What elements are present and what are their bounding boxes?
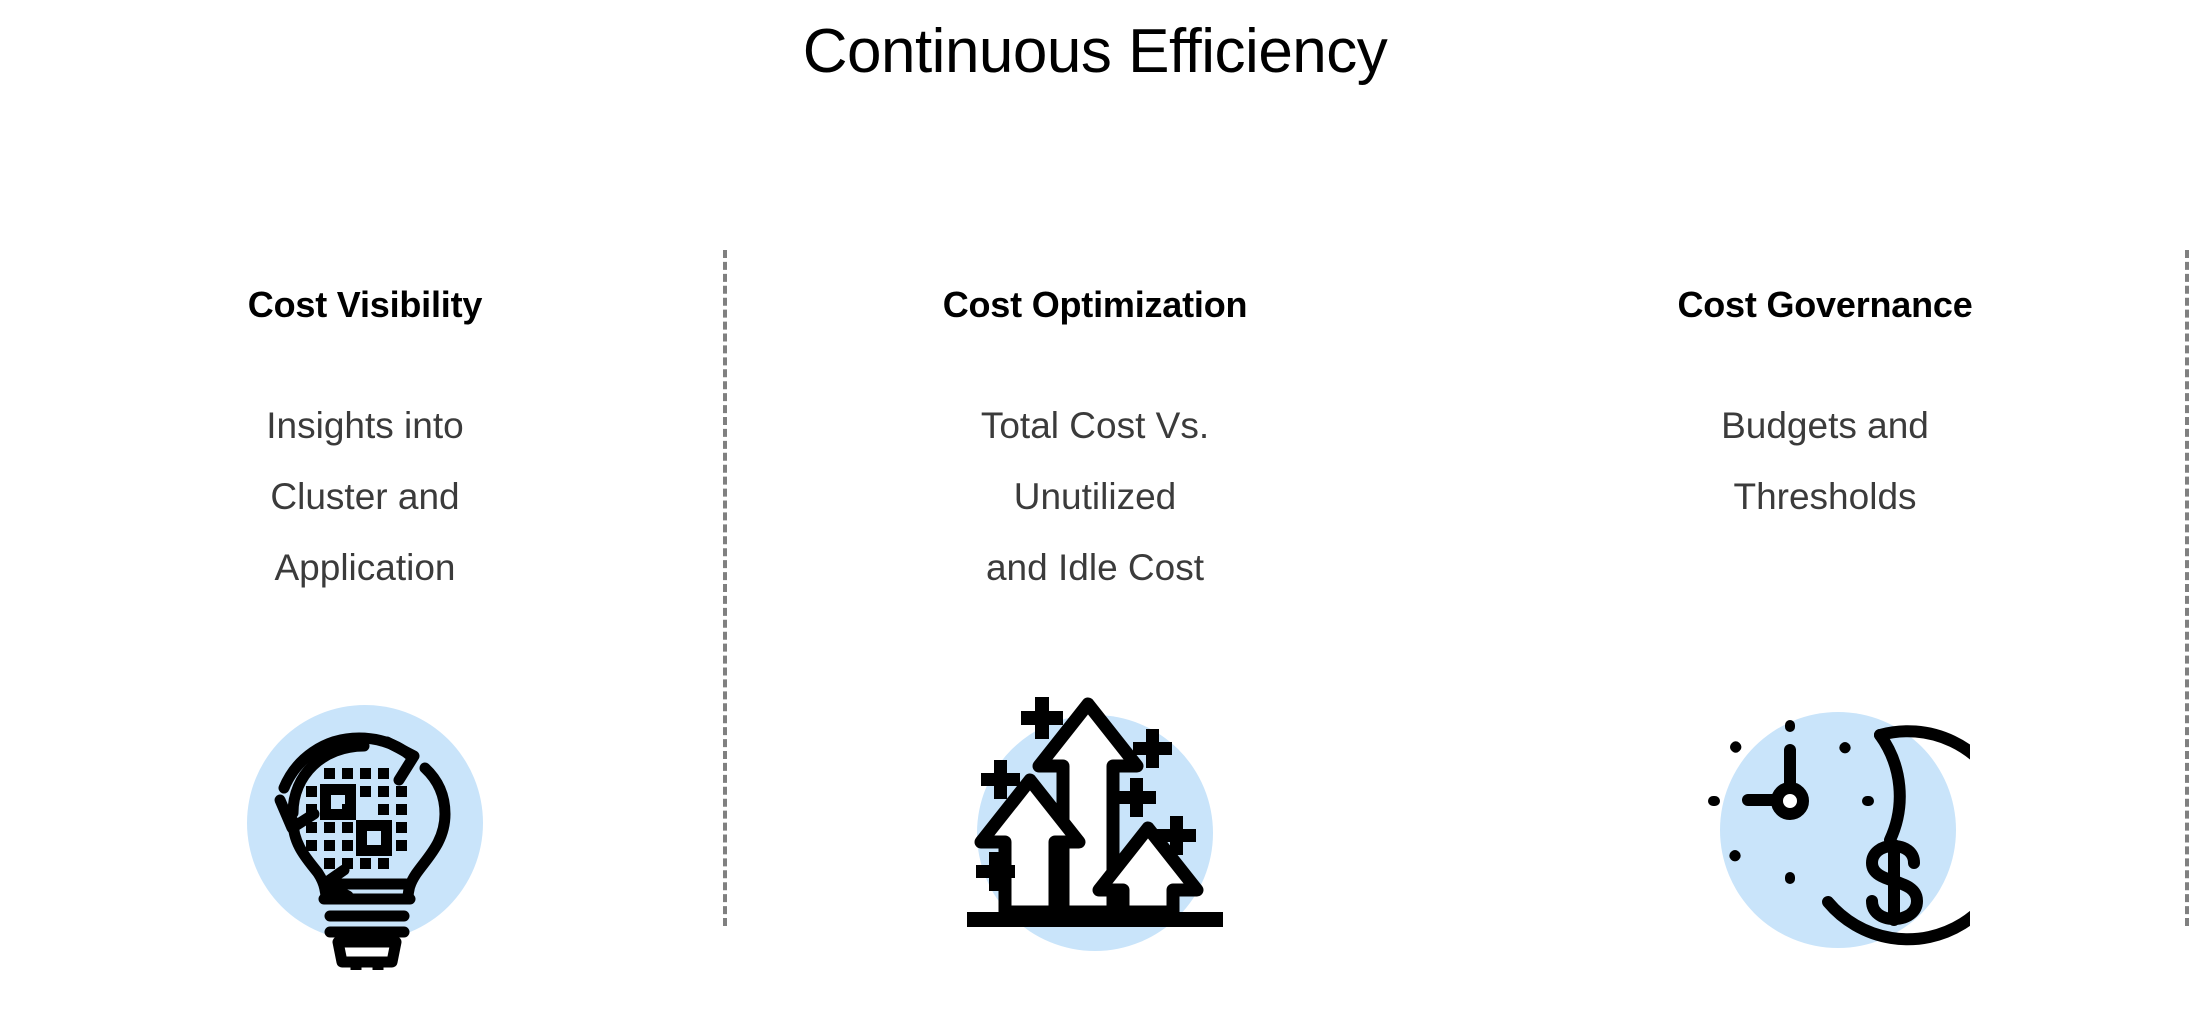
column-cost-visibility: Cost Visibility Insights into Cluster an… [0, 250, 730, 950]
body-line: Budgets and [1460, 390, 2190, 461]
icon-container-cost-visibility [0, 680, 730, 970]
column-cost-optimization: Cost Optimization Total Cost Vs. Unutili… [730, 250, 1460, 950]
clock-dollar-icon [1680, 680, 1970, 970]
divider-1 [723, 250, 727, 926]
clock-pivot [1777, 788, 1803, 814]
column-body-cost-governance: Budgets and Thresholds [1460, 390, 2190, 532]
columns-container: Cost Visibility Insights into Cluster an… [0, 250, 2190, 950]
body-line: Total Cost Vs. [730, 390, 1460, 461]
icon-container-cost-governance [1460, 680, 2190, 970]
body-line: Application [0, 532, 730, 603]
column-body-cost-optimization: Total Cost Vs. Unutilized and Idle Cost [730, 390, 1460, 603]
growth-arrows-icon [945, 680, 1245, 970]
body-line: Unutilized [730, 461, 1460, 532]
baseline [967, 912, 1223, 927]
body-line: Cluster and [0, 461, 730, 532]
column-heading-cost-visibility: Cost Visibility [0, 284, 730, 326]
lightbulb-data-refresh-icon [220, 680, 510, 970]
page-title: Continuous Efficiency [0, 16, 2190, 87]
body-line: Insights into [0, 390, 730, 461]
column-body-cost-visibility: Insights into Cluster and Application [0, 390, 730, 603]
column-heading-cost-governance: Cost Governance [1460, 284, 2190, 326]
icon-container-cost-optimization [730, 680, 1460, 970]
column-cost-governance: Cost Governance Budgets and Thresholds [1460, 250, 2190, 950]
body-line: and Idle Cost [730, 532, 1460, 603]
column-heading-cost-optimization: Cost Optimization [730, 284, 1460, 326]
body-line: Thresholds [1460, 461, 2190, 532]
